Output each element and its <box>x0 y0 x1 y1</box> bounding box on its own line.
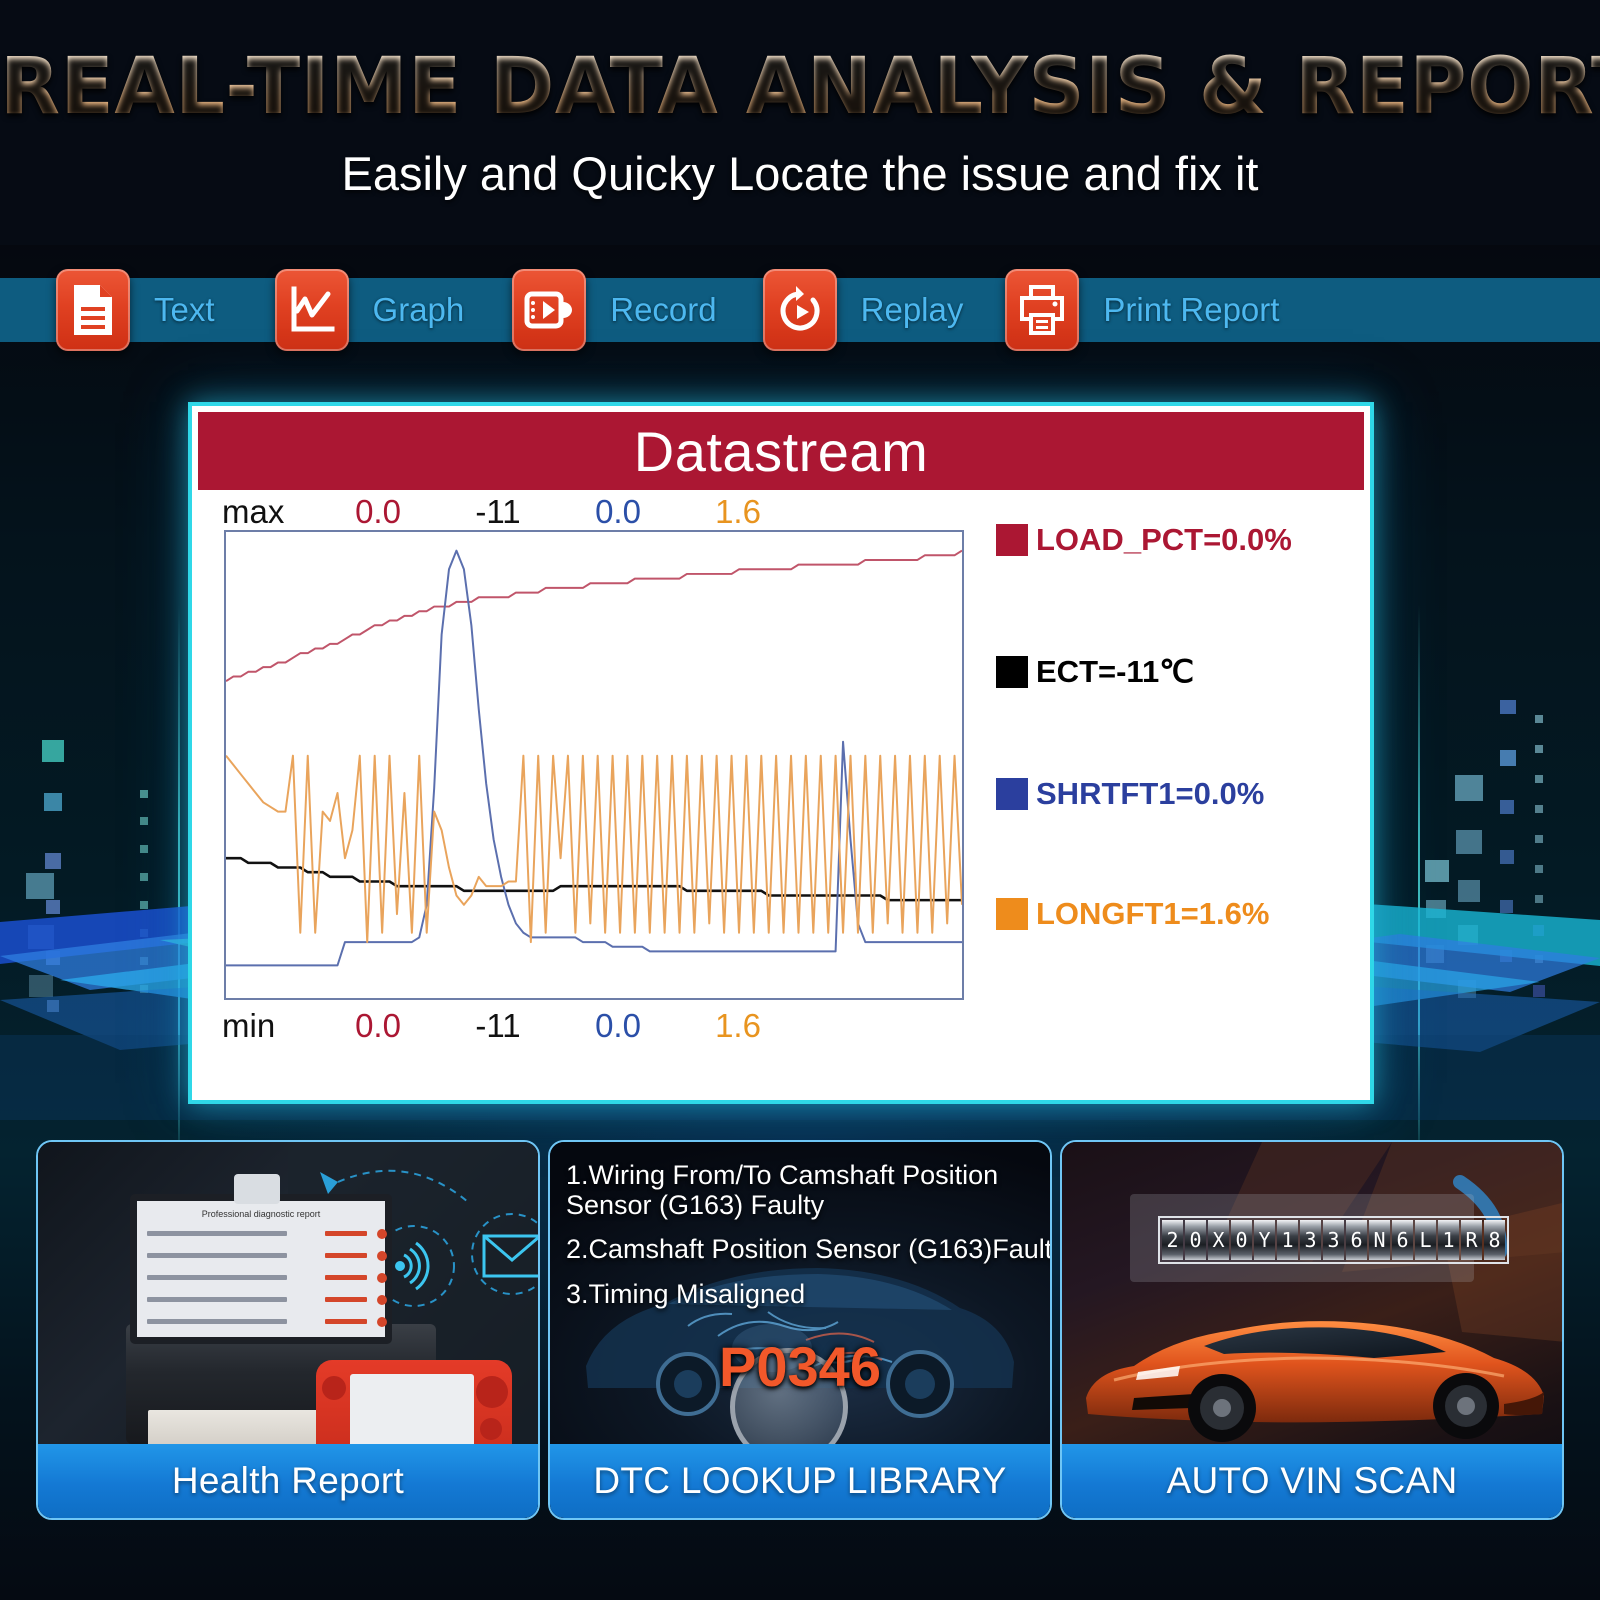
min-value-shrtft1: 0.0 <box>558 1007 678 1045</box>
deco-square <box>140 845 148 853</box>
datastream-inner: Datastream max 0.0 -11 0.0 1.6 <box>198 412 1364 1094</box>
report-row <box>147 1231 389 1240</box>
dtc-cause-3: 3.Timing Misaligned <box>566 1279 1036 1309</box>
legend-item-longft1: LONGFT1=1.6% <box>996 896 1269 932</box>
toolbar-label-graph: Graph <box>373 291 465 329</box>
scan-tool-dpad <box>476 1376 508 1408</box>
legend-swatch-longft1 <box>996 898 1028 930</box>
deco-square <box>29 975 53 997</box>
max-label: max <box>198 493 318 531</box>
min-row: min 0.0 -11 0.0 1.6 <box>198 1006 1364 1046</box>
card-auto-vin-scan[interactable]: 20X0Y1336N6L1R8 <box>1060 1140 1564 1520</box>
toolbar-item-print-report[interactable]: Print Report <box>1005 269 1279 351</box>
deco-square <box>1425 860 1449 882</box>
deco-square <box>1458 880 1480 902</box>
legend-swatch-shrtft1 <box>996 778 1028 810</box>
line-chart-icon[interactable] <box>275 269 349 351</box>
deco-square <box>47 1000 59 1012</box>
deco-square <box>1458 980 1476 998</box>
legend-label-ect: ECT=-11℃ <box>1036 654 1194 690</box>
vin-character: 3 <box>1300 1220 1321 1260</box>
toolbar-item-record[interactable]: Record <box>512 269 716 351</box>
toolbar-label-replay: Replay <box>861 291 964 329</box>
legend-swatch-load-pct <box>996 524 1028 556</box>
report-row <box>147 1253 389 1262</box>
plot-svg <box>226 532 962 998</box>
tablet-device: Professional diagnostic report <box>130 1194 392 1344</box>
series-shrtft1 <box>226 551 962 966</box>
vin-character: 1 <box>1277 1220 1298 1260</box>
vin-character-boxes: 20X0Y1336N6L1R8 <box>1158 1216 1509 1264</box>
deco-square <box>140 817 148 825</box>
deco-square <box>1500 850 1514 864</box>
toolbar-label-print-report: Print Report <box>1103 291 1279 329</box>
vin-character: L <box>1415 1220 1436 1260</box>
deco-square <box>1426 900 1446 918</box>
tablet-report-title: Professional diagnostic report <box>137 1209 385 1219</box>
card-dtc-lookup[interactable]: 1.Wiring From/To Camshaft Position Senso… <box>548 1140 1052 1520</box>
deco-square <box>140 901 148 909</box>
min-label: min <box>198 1007 318 1045</box>
card-caption-text: DTC LOOKUP LIBRARY <box>593 1460 1006 1502</box>
min-value-load-pct: 0.0 <box>318 1007 438 1045</box>
card-caption-auto-vin-scan: AUTO VIN SCAN <box>1062 1444 1562 1518</box>
series-ect <box>226 858 962 900</box>
vin-character: Y <box>1254 1220 1275 1260</box>
dtc-code: P0346 <box>550 1334 1050 1399</box>
datastream-legend: LOAD_PCT=0.0% ECT=-11℃ SHRTFT1=0.0% LONG… <box>996 504 1368 1014</box>
datastream-header: Datastream <box>198 412 1364 490</box>
deco-square <box>46 951 60 965</box>
deco-square <box>1535 835 1543 843</box>
accent-line-left <box>178 605 180 1165</box>
page-header: REAL-TIME DATA ANALYSIS & REPORT Easily … <box>0 0 1600 245</box>
deco-square <box>1535 805 1543 813</box>
legend-swatch-ect <box>996 656 1028 688</box>
page-title: REAL-TIME DATA ANALYSIS & REPORT <box>0 42 1600 132</box>
report-row <box>147 1275 389 1284</box>
deco-square <box>44 793 62 811</box>
printer-icon[interactable] <box>1005 269 1079 351</box>
card-caption-dtc-lookup: DTC LOOKUP LIBRARY <box>550 1444 1050 1518</box>
deco-square <box>1458 925 1478 945</box>
vin-character: R <box>1461 1220 1482 1260</box>
vin-character: 0 <box>1231 1220 1252 1260</box>
deco-square <box>1456 830 1482 854</box>
deco-square <box>1500 900 1513 913</box>
scan-tool-button <box>480 1418 502 1440</box>
card-caption-text: Health Report <box>172 1460 404 1502</box>
legend-label-load-pct: LOAD_PCT=0.0% <box>1036 522 1292 558</box>
legend-item-shrtft1: SHRTFT1=0.0% <box>996 776 1264 812</box>
vin-character: 6 <box>1346 1220 1367 1260</box>
min-value-longft1: 1.6 <box>678 1007 798 1045</box>
deco-square <box>140 790 148 798</box>
vin-character: N <box>1369 1220 1390 1260</box>
datastream-body: max 0.0 -11 0.0 1.6 LOAD_PCT=0.0% <box>198 490 1364 1094</box>
deco-square <box>42 740 64 762</box>
supercar-illustration <box>1074 1272 1554 1442</box>
deco-square <box>140 929 148 937</box>
vin-character: 1 <box>1438 1220 1459 1260</box>
deco-square <box>1535 715 1543 723</box>
max-value-longft1: 1.6 <box>678 493 798 531</box>
deco-square <box>140 985 148 993</box>
replay-circular-arrow-icon[interactable] <box>763 269 837 351</box>
toolbar: Text Graph <box>0 250 1600 370</box>
deco-square <box>1455 775 1483 801</box>
card-caption-text: AUTO VIN SCAN <box>1166 1460 1457 1502</box>
deco-square <box>1426 945 1444 963</box>
toolbar-item-text[interactable]: Text <box>56 269 215 351</box>
deco-square <box>28 925 54 949</box>
video-record-icon[interactable] <box>512 269 586 351</box>
deco-square <box>1535 865 1543 873</box>
deco-square <box>26 873 54 899</box>
deco-square <box>140 957 148 965</box>
legend-item-ect: ECT=-11℃ <box>996 654 1194 690</box>
deco-square <box>140 873 148 881</box>
datastream-panel: Datastream max 0.0 -11 0.0 1.6 <box>188 402 1374 1104</box>
document-icon[interactable] <box>56 269 130 351</box>
dtc-cause-list: 1.Wiring From/To Camshaft Position Senso… <box>566 1160 1036 1323</box>
deco-square <box>1533 985 1545 997</box>
vin-character: 3 <box>1323 1220 1344 1260</box>
deco-square <box>46 900 60 914</box>
dtc-cause-1: 1.Wiring From/To Camshaft Position Senso… <box>566 1160 1036 1220</box>
accent-line-right <box>1418 605 1420 1165</box>
report-row <box>147 1319 389 1328</box>
vin-character: 0 <box>1185 1220 1206 1260</box>
deco-square <box>1500 700 1516 714</box>
datastream-title: Datastream <box>634 419 928 484</box>
legend-label-shrtft1: SHRTFT1=0.0% <box>1036 776 1264 812</box>
card-caption-health-report: Health Report <box>38 1444 538 1518</box>
deco-square <box>1500 950 1512 962</box>
deco-square <box>1500 750 1516 766</box>
max-value-ect: -11 <box>438 493 558 531</box>
vin-character: X <box>1208 1220 1229 1260</box>
deco-square <box>45 853 61 869</box>
page-root: REAL-TIME DATA ANALYSIS & REPORT Easily … <box>0 0 1600 1600</box>
vin-character: 8 <box>1484 1220 1505 1260</box>
scan-tool-button <box>322 1376 346 1400</box>
series-load_pct <box>226 551 962 681</box>
dtc-cause-2: 2.Camshaft Position Sensor (G163)Faulty <box>566 1234 1036 1264</box>
page-subtitle: Easily and Quicky Locate the issue and f… <box>0 146 1600 201</box>
card-health-report[interactable]: Professional diagnostic report Health Re… <box>36 1140 540 1520</box>
datastream-plot <box>224 530 964 1000</box>
vin-character: 2 <box>1162 1220 1183 1260</box>
max-value-shrtft1: 0.0 <box>558 493 678 531</box>
deco-square <box>1500 800 1514 814</box>
min-value-ect: -11 <box>438 1007 558 1045</box>
deco-square <box>1533 925 1544 936</box>
vin-character: 6 <box>1392 1220 1413 1260</box>
report-row <box>147 1297 389 1306</box>
toolbar-label-record: Record <box>610 291 716 329</box>
deco-square <box>1535 745 1543 753</box>
deco-square <box>1535 775 1543 783</box>
clipboard-clip <box>234 1174 280 1204</box>
deco-square <box>1535 955 1543 963</box>
toolbar-item-replay[interactable]: Replay <box>763 269 964 351</box>
max-value-load-pct: 0.0 <box>318 493 438 531</box>
toolbar-item-graph[interactable]: Graph <box>275 269 465 351</box>
toolbar-label-text: Text <box>154 291 215 329</box>
legend-item-load-pct: LOAD_PCT=0.0% <box>996 522 1292 558</box>
deco-square <box>1535 895 1543 903</box>
legend-label-longft1: LONGFT1=1.6% <box>1036 896 1269 932</box>
